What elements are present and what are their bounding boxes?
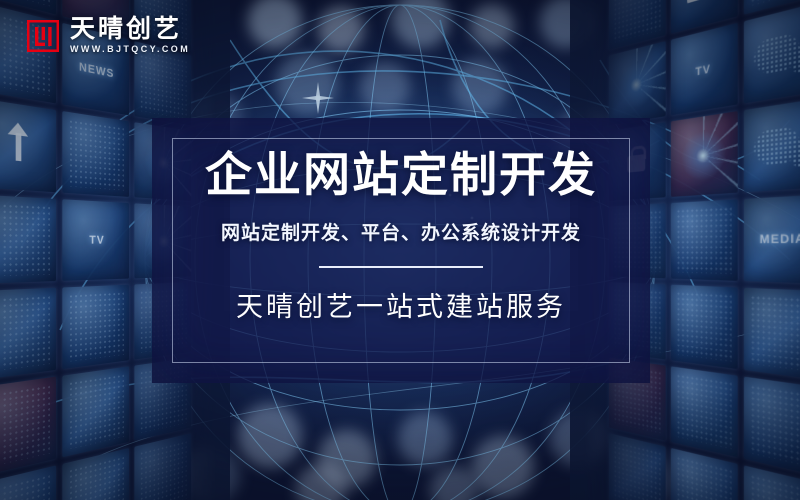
tagline: 天晴创艺一站式建站服务: [236, 285, 566, 324]
page-subtitle: 网站定制开发、平台、办公系统设计开发: [221, 218, 581, 245]
tianqing-cuyi-logo-mark: [27, 20, 59, 52]
brand-name: 天晴创艺: [70, 17, 190, 42]
page-title: 企业网站定制开发: [205, 152, 597, 202]
promo-banner: NEWS TV TV: [0, 0, 800, 500]
brand-logo[interactable]: 天晴创艺 WWW.BJTQCY.COM: [27, 17, 190, 54]
brand-website: WWW.BJTQCY.COM: [70, 45, 190, 54]
title-divider: [319, 266, 483, 268]
content-panel: 企业网站定制开发 网站定制开发、平台、办公系统设计开发 天晴创艺一站式建站服务: [152, 118, 650, 383]
